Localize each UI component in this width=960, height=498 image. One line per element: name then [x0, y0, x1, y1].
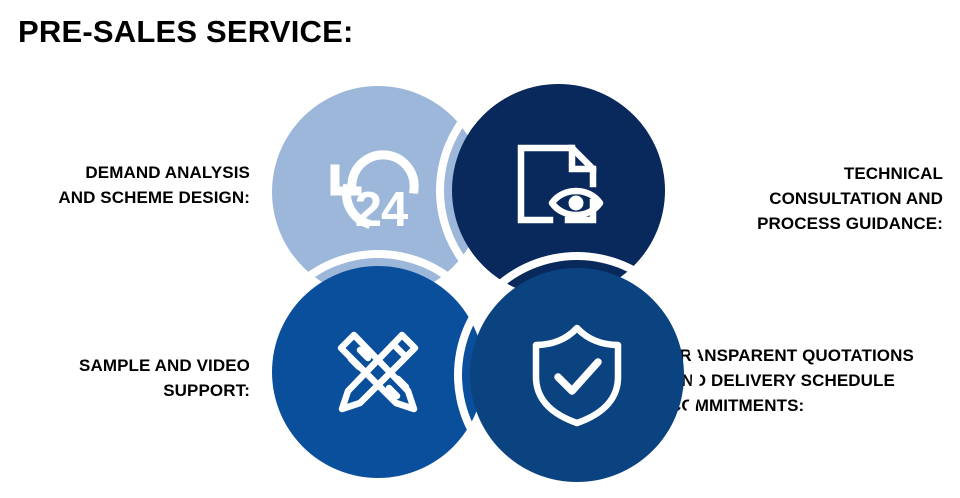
svg-text:24: 24 — [355, 183, 408, 237]
document-eye-icon — [508, 140, 610, 242]
shield-check-icon — [525, 321, 629, 429]
label-technical-line-3: PROCESS GUIDANCE: — [757, 214, 943, 233]
circle-technical-consultation[interactable] — [452, 84, 665, 297]
label-demand-analysis: DEMAND ANALYSIS AND SCHEME DESIGN: — [0, 160, 250, 210]
label-sample-line-1: SAMPLE AND VIDEO — [79, 356, 250, 375]
label-quotation-line-3: COMMITMENTS: — [669, 396, 804, 415]
label-demand-line-1: DEMAND ANALYSIS — [85, 163, 250, 182]
label-quotation-line-1: TRANSPARENT QUOTATIONS — [669, 346, 914, 365]
label-sample-video-support: SAMPLE AND VIDEO SUPPORT: — [0, 353, 250, 403]
clock-24-rotate-icon: 24 — [323, 142, 433, 242]
label-sample-line-2: SUPPORT: — [163, 381, 250, 400]
label-transparent-quotations: TRANSPARENT QUOTATIONS AND DELIVERY SCHE… — [669, 343, 960, 418]
infographic-page: PRE-SALES SERVICE: 24 — [0, 0, 960, 498]
label-demand-line-2: AND SCHEME DESIGN: — [58, 188, 250, 207]
circle-transparent-quotations[interactable] — [470, 268, 684, 482]
label-quotation-line-2: AND DELIVERY SCHEDULE — [669, 371, 895, 390]
circle-sample-video-support[interactable] — [272, 266, 484, 478]
pen-ruler-icon — [324, 318, 432, 426]
label-technical-line-2: CONSULTATION AND — [769, 189, 943, 208]
circle-cluster: 24 — [0, 0, 960, 498]
label-technical-consultation: TECHNICAL CONSULTATION AND PROCESS GUIDA… — [693, 161, 943, 236]
label-technical-line-1: TECHNICAL — [844, 164, 943, 183]
